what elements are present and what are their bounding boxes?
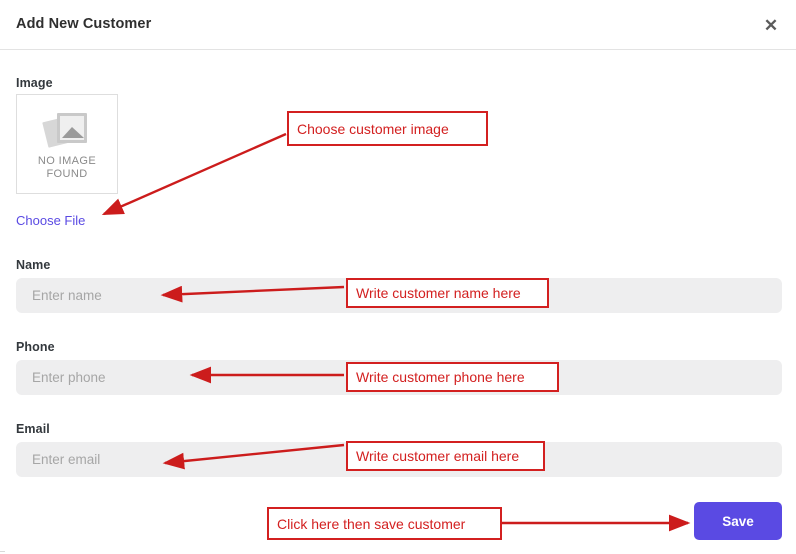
annotation-save: Click here then save customer xyxy=(267,507,502,540)
choose-file-link[interactable]: Choose File xyxy=(16,213,85,228)
annotation-phone-text: Write customer phone here xyxy=(356,369,525,385)
email-label: Email xyxy=(16,422,50,436)
photo-frame-front-icon xyxy=(57,113,87,143)
annotation-choose-image: Choose customer image xyxy=(287,111,488,146)
annotation-name: Write customer name here xyxy=(346,278,549,308)
annotation-save-text: Click here then save customer xyxy=(277,516,465,532)
no-image-icon xyxy=(44,109,90,151)
image-preview: NO IMAGE FOUND xyxy=(16,94,118,194)
phone-label: Phone xyxy=(16,340,55,354)
annotation-email: Write customer email here xyxy=(346,441,545,471)
no-image-text: NO IMAGE FOUND xyxy=(17,155,117,181)
image-label: Image xyxy=(16,76,53,90)
page-title: Add New Customer xyxy=(16,16,151,32)
annotation-phone: Write customer phone here xyxy=(346,362,559,392)
footer-divider xyxy=(0,551,5,552)
save-button[interactable]: Save xyxy=(694,502,782,540)
name-label: Name xyxy=(16,258,50,272)
annotation-name-text: Write customer name here xyxy=(356,285,521,301)
no-image-line-1: NO IMAGE xyxy=(17,155,117,168)
annotation-email-text: Write customer email here xyxy=(356,448,519,464)
annotation-choose-image-text: Choose customer image xyxy=(297,121,449,137)
close-icon[interactable]: ✕ xyxy=(758,14,784,38)
no-image-line-2: FOUND xyxy=(17,168,117,181)
modal-header: Add New Customer ✕ xyxy=(0,0,796,50)
